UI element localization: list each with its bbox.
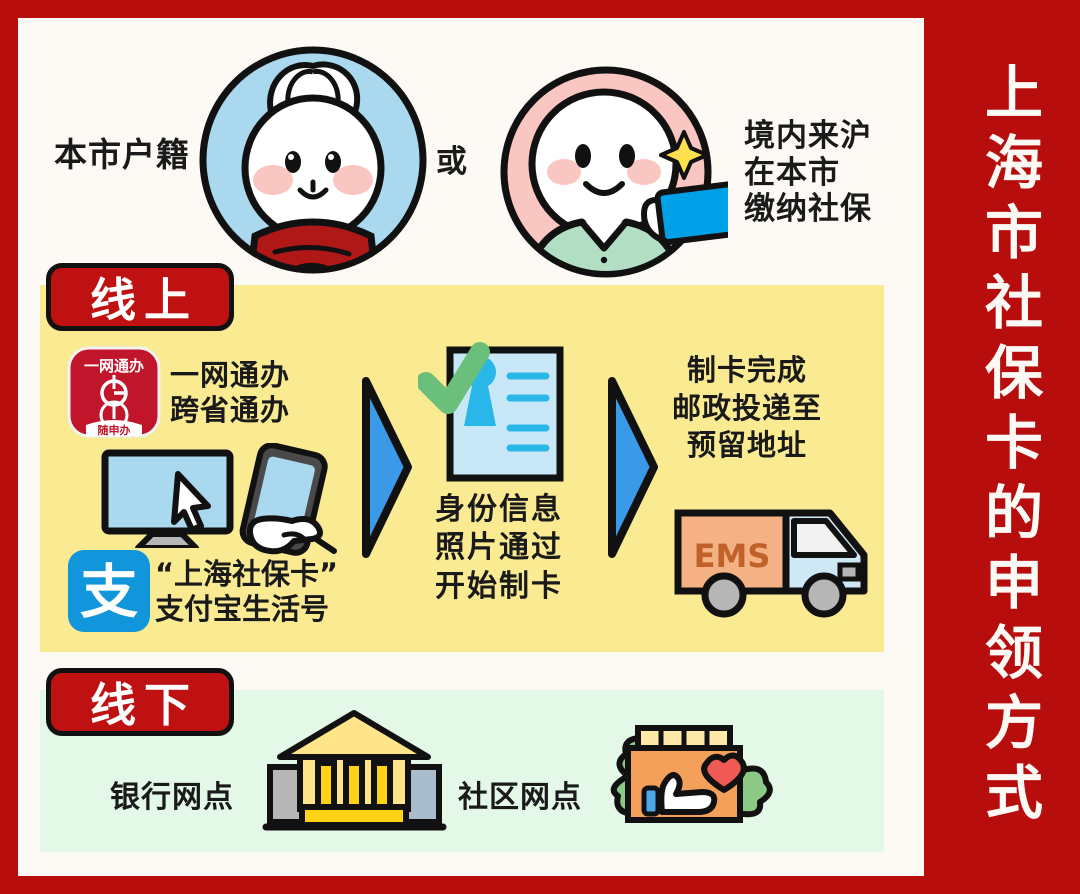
- ems-truck-text: EMS: [694, 537, 771, 575]
- desktop-monitor-icon: [100, 448, 235, 548]
- eligibility-row: 本市户籍 或 境内来沪 在本市 缴纳社保: [18, 18, 924, 285]
- badge-online: 线上: [46, 263, 234, 331]
- online-step-deliver-label: 制卡完成 邮政投递至 预留地址: [672, 352, 822, 465]
- deliver-line-2: 邮政投递至: [672, 390, 822, 428]
- yiwangtongban-app-icon[interactable]: 一网通办 随申办: [66, 345, 162, 439]
- online-channel-1-label: 一网通办 跨省通办: [170, 358, 290, 428]
- id-card-approved-icon: [418, 338, 573, 483]
- chevron-right-arrow-1: [358, 375, 416, 560]
- online-channel-1-line-2: 跨省通办: [170, 393, 290, 428]
- svg-text:支: 支: [80, 558, 138, 626]
- mascot-blue-avatar: [193, 40, 433, 280]
- badge-offline: 线下: [46, 668, 234, 736]
- online-step-verify-label: 身份信息 照片通过 开始制卡: [435, 491, 563, 606]
- verify-line-2: 照片通过: [435, 529, 563, 567]
- bank-building-icon: [262, 705, 447, 835]
- community-center-icon: [598, 718, 773, 833]
- deliver-line-1: 制卡完成: [672, 352, 822, 390]
- eligibility-nonlocal-line-2: 在本市: [744, 155, 872, 192]
- alipay-icon[interactable]: 支: [68, 550, 150, 632]
- svg-text:一网通办: 一网通办: [84, 357, 144, 375]
- online-channel-2-line-1: “上海社保卡”: [155, 557, 338, 592]
- offline-venue-1-label: 银行网点: [110, 780, 234, 816]
- online-channel-2-line-2: 支付宝生活号: [155, 592, 338, 627]
- offline-venue-2-label: 社区网点: [458, 780, 582, 816]
- verify-line-1: 身份信息: [435, 491, 563, 529]
- poster-title: 上海市社保卡的申领方式: [980, 62, 1038, 832]
- eligibility-local-label: 本市户籍: [54, 136, 190, 175]
- online-channel-2-label: “上海社保卡” 支付宝生活号: [155, 557, 338, 627]
- eligibility-nonlocal-line-3: 缴纳社保: [744, 191, 872, 228]
- eligibility-or-label: 或: [436, 144, 467, 181]
- vertical-title-banner: 上海市社保卡的申领方式: [938, 0, 1080, 894]
- mascot-pink-avatar: [488, 60, 728, 285]
- online-channel-1-line-1: 一网通办: [170, 358, 290, 393]
- svg-text:随申办: 随申办: [98, 423, 131, 437]
- deliver-line-3: 预留地址: [672, 427, 822, 465]
- chevron-right-arrow-2: [604, 375, 662, 560]
- ems-delivery-truck-icon: EMS: [672, 495, 872, 620]
- eligibility-nonlocal-label: 境内来沪 在本市 缴纳社保: [744, 118, 872, 228]
- verify-line-3: 开始制卡: [435, 568, 563, 606]
- eligibility-nonlocal-line-1: 境内来沪: [744, 118, 872, 155]
- poster-root: 本市户籍 或 境内来沪 在本市 缴纳社保 线上 一网通办 随申办 一网通办 跨省…: [0, 0, 1080, 894]
